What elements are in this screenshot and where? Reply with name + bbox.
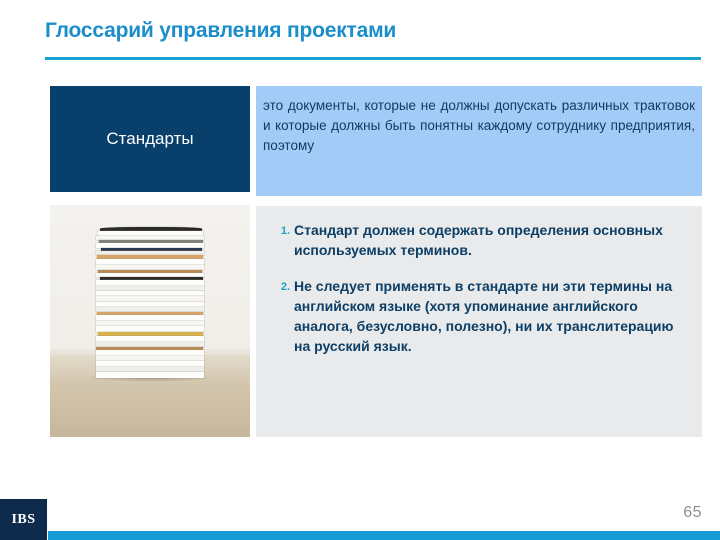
term-box: Стандарты xyxy=(50,86,250,192)
page-title: Глоссарий управления проектами xyxy=(45,18,685,44)
term-label: Стандарты xyxy=(98,128,201,150)
stack-of-documents-photo xyxy=(50,205,250,437)
footer-accent-bar xyxy=(48,531,720,540)
photo-paper-stack xyxy=(96,227,204,377)
ibs-logo-text: IBS xyxy=(11,512,35,528)
definition-panel: это документы, которые не должны допуска… xyxy=(256,86,702,196)
list-item-text: Стандарт должен содержать определения ос… xyxy=(294,222,663,258)
title-divider xyxy=(45,57,701,60)
definition-text: это документы, которые не должны допуска… xyxy=(263,96,695,156)
page-number: 65 xyxy=(683,504,702,522)
list-item-text: Не следует применять в стандарте ни эти … xyxy=(294,278,674,354)
ibs-logo: IBS xyxy=(0,499,47,540)
facts-list: Стандарт должен содержать определения ос… xyxy=(264,220,688,356)
list-item: Не следует применять в стандарте ни эти … xyxy=(294,276,688,356)
facts-panel: Стандарт должен содержать определения ос… xyxy=(256,206,702,437)
list-item: Стандарт должен содержать определения ос… xyxy=(294,220,688,260)
